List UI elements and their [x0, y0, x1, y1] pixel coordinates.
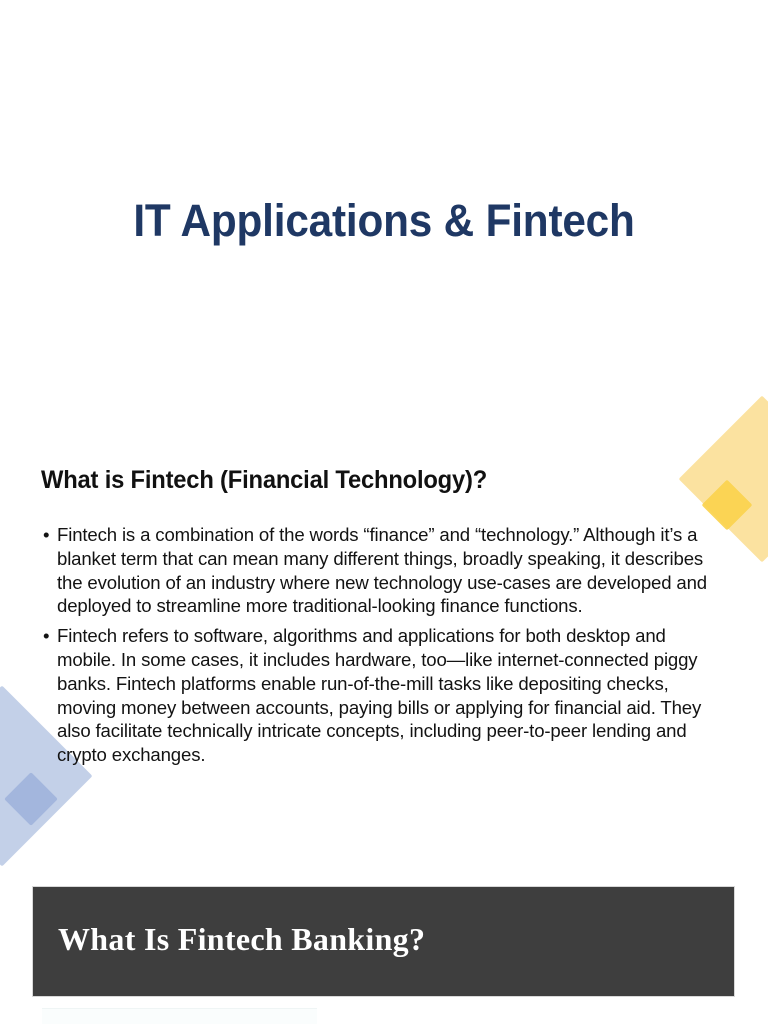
blue-diamond-small-icon [4, 772, 58, 826]
slide-title: IT Applications & Fintech [23, 196, 745, 246]
list-item-text: Fintech is a combination of the words “f… [57, 524, 707, 616]
bullet-marker-icon: • [43, 523, 49, 547]
banner-title: What Is Fintech Banking? [58, 921, 425, 958]
section-heading: What is Fintech (Financial Technology)? [41, 466, 679, 495]
list-item-text: Fintech refers to software, algorithms a… [57, 625, 701, 765]
bullet-list: • Fintech is a combination of the words … [41, 523, 713, 767]
slide-canvas: IT Applications & Fintech What is Fintec… [0, 0, 768, 1024]
bullet-marker-icon: • [43, 624, 49, 648]
fintech-banking-banner: What Is Fintech Banking? [33, 887, 734, 996]
list-item: • Fintech is a combination of the words … [41, 523, 713, 618]
faint-panel-edge [42, 1008, 317, 1024]
list-item: • Fintech refers to software, algorithms… [41, 624, 713, 767]
content-block: What is Fintech (Financial Technology)? … [41, 466, 713, 773]
